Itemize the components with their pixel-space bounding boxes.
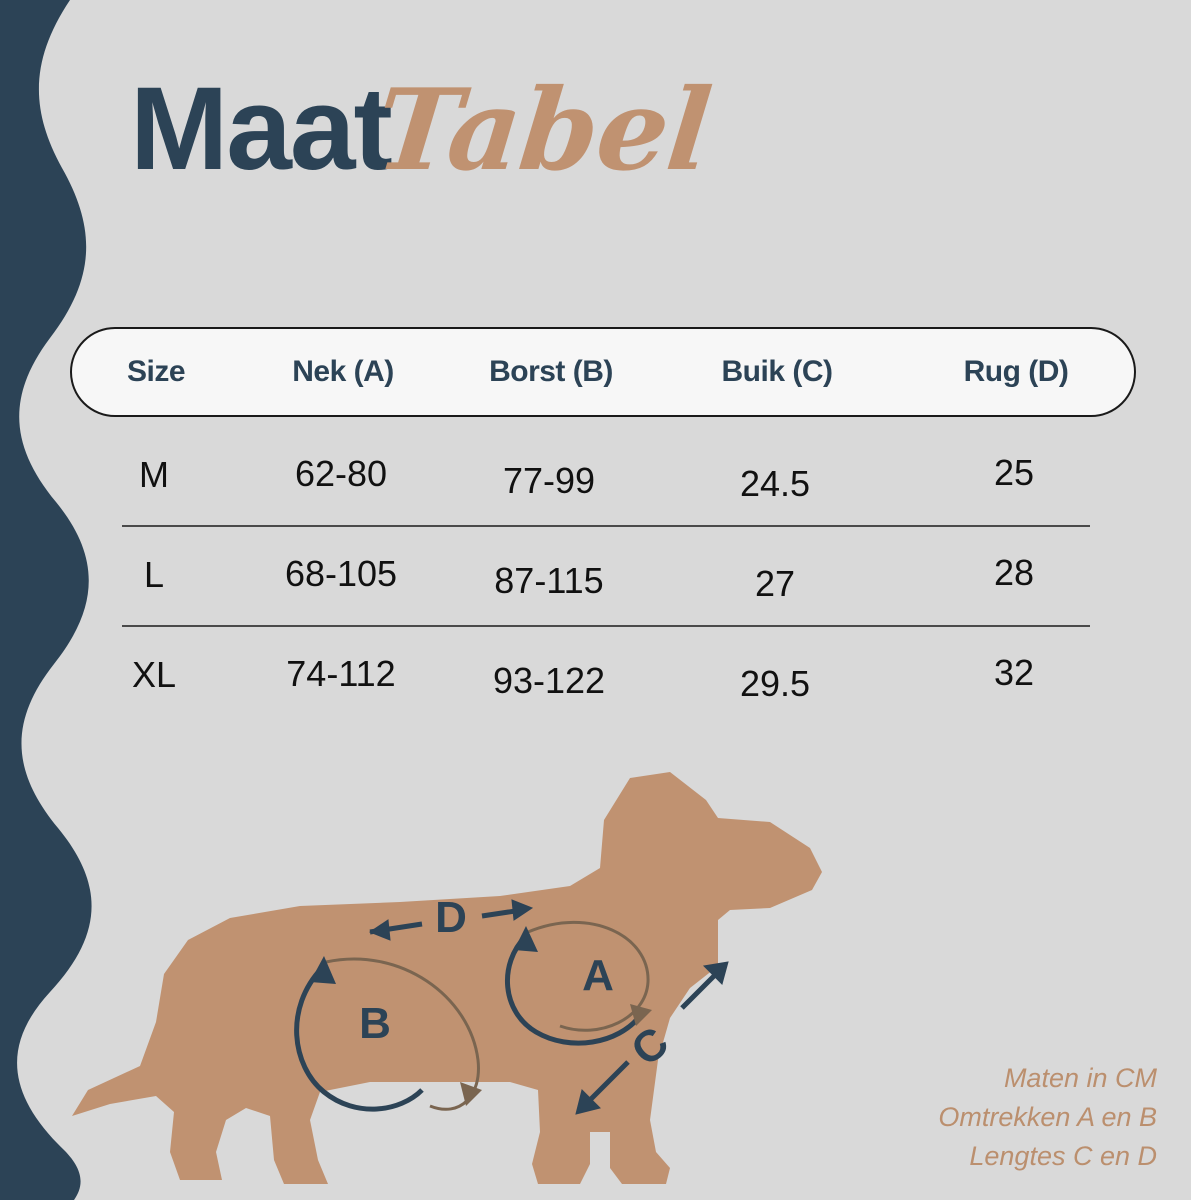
column-header-borst: Borst (B) (446, 355, 656, 389)
footnotes: Maten in CM Omtrekken A en B Lengtes C e… (938, 1059, 1157, 1176)
column-header-size: Size (72, 355, 240, 389)
cell-buik: 24.5 (654, 463, 896, 505)
label-d: D (435, 893, 467, 942)
page-title: Maat Tabel (130, 70, 709, 210)
column-header-nek: Nek (A) (240, 355, 446, 389)
column-header-buik: Buik (C) (656, 355, 898, 389)
cell-size: XL (70, 654, 238, 696)
dog-measurement-diagram: D A B C (70, 760, 830, 1200)
label-a: A (582, 951, 614, 1000)
column-header-rug: Rug (D) (898, 355, 1134, 389)
cell-borst: 93-122 (444, 660, 654, 702)
footnote-line: Omtrekken A en B (938, 1098, 1157, 1137)
cell-borst: 87-115 (444, 560, 654, 602)
footnote-line: Maten in CM (938, 1059, 1157, 1098)
cell-size: M (70, 454, 238, 496)
label-b: B (359, 999, 391, 1048)
cell-nek: 74-112 (238, 653, 444, 695)
table-header-pill: Size Nek (A) Borst (B) Buik (C) Rug (D) (70, 327, 1136, 417)
cell-size: L (70, 554, 238, 596)
title-script-text: Tabel (371, 75, 715, 187)
table-row: L 68-105 87-115 27 28 (70, 527, 1136, 627)
cell-rug: 25 (896, 452, 1132, 494)
cell-rug: 28 (896, 552, 1132, 594)
title-main-text: Maat (130, 70, 391, 188)
cell-nek: 62-80 (238, 453, 444, 495)
cell-buik: 29.5 (654, 663, 896, 705)
cell-buik: 27 (654, 563, 896, 605)
footnote-line: Lengtes C en D (938, 1137, 1157, 1176)
cell-nek: 68-105 (238, 553, 444, 595)
cell-borst: 77-99 (444, 460, 654, 502)
table-row: M 62-80 77-99 24.5 25 (70, 427, 1136, 527)
cell-rug: 32 (896, 652, 1132, 694)
table-row: XL 74-112 93-122 29.5 32 (70, 627, 1136, 727)
size-table-body: M 62-80 77-99 24.5 25 L 68-105 87-115 27… (70, 427, 1136, 727)
size-chart-page: Maat Tabel Size Nek (A) Borst (B) Buik (… (0, 0, 1191, 1200)
